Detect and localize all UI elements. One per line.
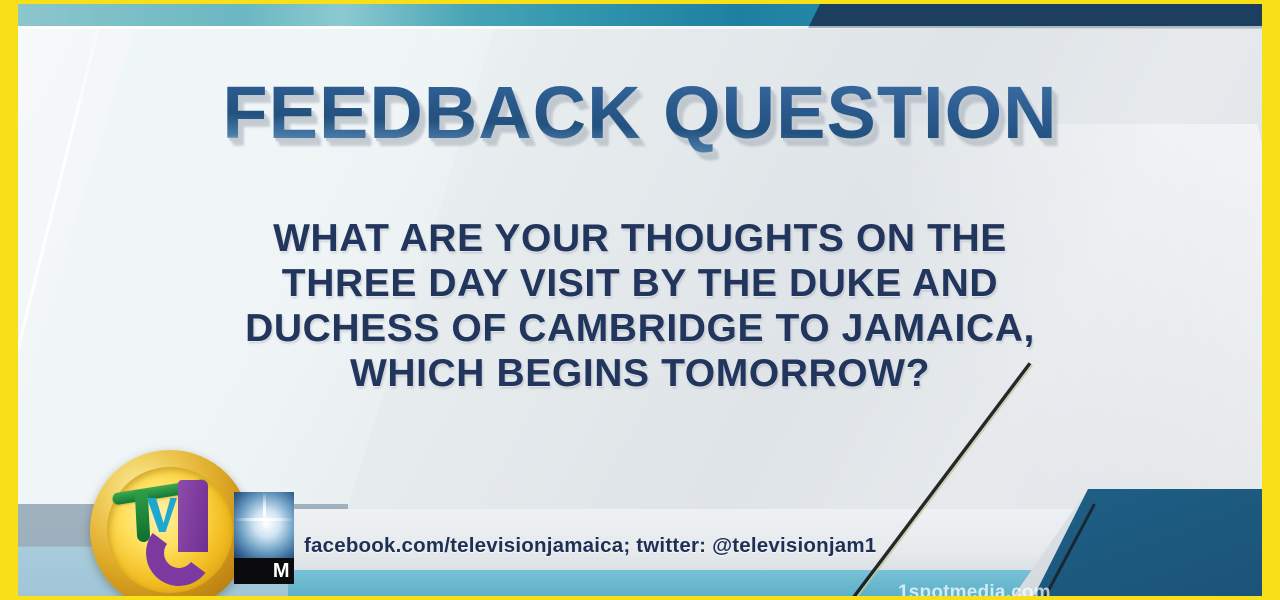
social-handles-text: facebook.com/televisionjamaica; twitter:… xyxy=(304,534,876,558)
top-banner-edge-highlight xyxy=(18,26,1262,29)
top-banner-navy-block xyxy=(808,4,1262,28)
frame-border-top xyxy=(0,0,1280,4)
graphic-stage: FEEDBACK QUESTION WHAT ARE YOUR THOUGHTS… xyxy=(18,4,1262,596)
source-watermark: 1spotmedia.com xyxy=(898,582,1051,596)
secondary-logo-label: M xyxy=(234,558,294,584)
question-line-1: WHAT ARE YOUR THOUGHTS ON THE xyxy=(138,216,1142,261)
page-title: FEEDBACK QUESTION xyxy=(18,70,1262,155)
tvj-logo xyxy=(90,450,250,596)
frame-border-right xyxy=(1262,0,1280,600)
secondary-logo-glow-icon xyxy=(234,492,294,558)
secondary-logo-box: M xyxy=(234,492,294,584)
bottom-blue-wedge xyxy=(1030,489,1262,596)
broadcast-lower-third-graphic: FEEDBACK QUESTION WHAT ARE YOUR THOUGHTS… xyxy=(0,0,1280,600)
question-line-2: THREE DAY VISIT BY THE DUKE AND xyxy=(138,261,1142,306)
tvj-logo-j-icon xyxy=(146,480,214,588)
secondary-logo-flare-vertical xyxy=(263,492,266,532)
frame-border-left xyxy=(0,0,18,600)
feedback-question-text: WHAT ARE YOUR THOUGHTS ON THE THREE DAY … xyxy=(138,216,1142,396)
frame-border-bottom xyxy=(0,596,1280,600)
question-line-3: DUCHESS OF CAMBRIDGE TO JAMAICA, xyxy=(138,306,1142,351)
question-line-4: WHICH BEGINS TOMORROW? xyxy=(138,351,1142,396)
